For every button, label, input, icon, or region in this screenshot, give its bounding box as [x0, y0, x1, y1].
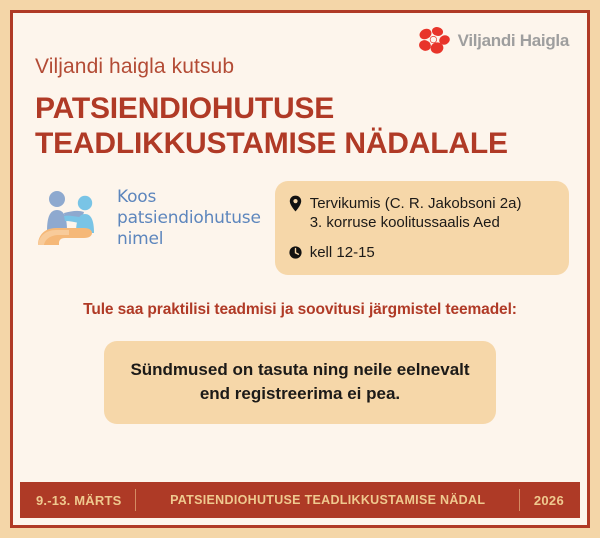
note-line-2: end registreerima ei pea. — [200, 384, 400, 403]
campaign-line-2: patsiendiohutuse — [117, 208, 261, 228]
poster-canvas: Viljandi Haigla Viljandi haigla kutsub P… — [10, 10, 590, 528]
poster-headline: PATSIENDIOHUTUSE TEADLIKKUSTAMISE NÄDALA… — [35, 91, 565, 161]
free-entry-note: Sündmused on tasuta ning neile eelnevalt… — [104, 341, 495, 424]
info-time-text: kell 12-15 — [310, 243, 375, 262]
campaign-logo-text: Koos patsiendiohutuse nimel — [117, 187, 261, 249]
poster-header: Viljandi Haigla Viljandi haigla kutsub P… — [13, 13, 587, 161]
info-location-text: Tervikumis (C. R. Jakobsoni 2a) 3. korru… — [310, 194, 522, 232]
footer-divider-right — [519, 489, 520, 511]
two-people-in-hand-icon — [35, 187, 109, 249]
cta-text: Tule saa praktilisi teadmisi ja soovitus… — [13, 301, 587, 319]
poster-mid-section: Koos patsiendiohutuse nimel Tervikumis (… — [13, 161, 587, 275]
hospital-brand: Viljandi Haigla — [417, 25, 569, 57]
note-line-1: Sündmused on tasuta ning neile eelnevalt — [130, 360, 469, 379]
info-location-line-2: 3. korruse koolitussaalis Aed — [310, 214, 500, 231]
campaign-logo: Koos patsiendiohutuse nimel — [35, 179, 261, 249]
headline-line-1: PATSIENDIOHUTUSE — [35, 91, 565, 126]
info-row-time: kell 12-15 — [289, 243, 553, 262]
info-location-line-1: Tervikumis (C. R. Jakobsoni 2a) — [310, 195, 522, 212]
info-row-location: Tervikumis (C. R. Jakobsoni 2a) 3. korru… — [289, 194, 553, 232]
flower-logo-icon — [417, 25, 451, 57]
poster-kicker: Viljandi haigla kutsub — [35, 55, 565, 79]
brand-name: Viljandi Haigla — [458, 31, 569, 51]
poster-footer: 9.-13. MÄRTS PATSIENDIOHUTUSE TEADLIKKUS… — [20, 482, 580, 518]
headline-line-2: TEADLIKKUSTAMISE NÄDALALE — [35, 126, 565, 161]
event-info-card: Tervikumis (C. R. Jakobsoni 2a) 3. korru… — [275, 181, 569, 275]
clock-icon — [289, 244, 302, 261]
campaign-line-3: nimel — [117, 229, 163, 249]
footer-divider-left — [135, 489, 136, 511]
campaign-line-1: Koos — [117, 187, 156, 207]
map-pin-icon — [289, 195, 302, 212]
footer-title: PATSIENDIOHUTUSE TEADLIKKUSTAMISE NÄDAL — [136, 493, 518, 507]
note-wrapper: Sündmused on tasuta ning neile eelnevalt… — [13, 341, 587, 424]
footer-year: 2026 — [534, 493, 564, 508]
footer-date: 9.-13. MÄRTS — [36, 493, 121, 508]
